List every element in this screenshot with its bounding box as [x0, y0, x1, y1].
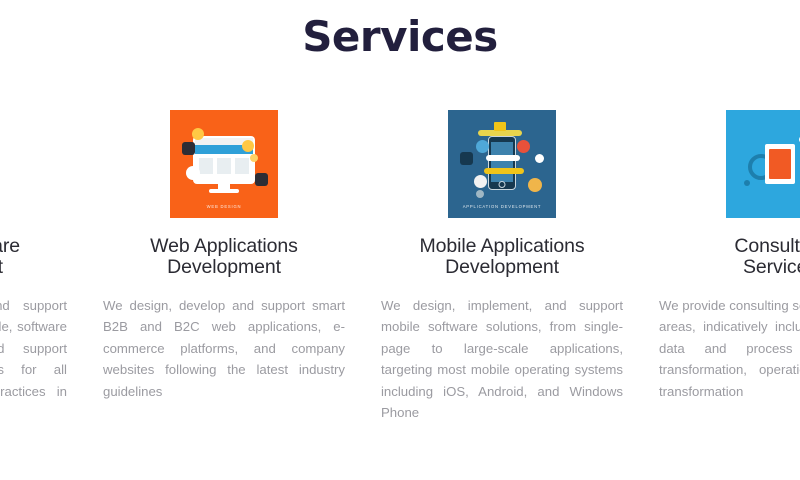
service-card-heading-line1: Web Applications: [150, 235, 298, 257]
bullet-dot: [744, 180, 750, 186]
service-card-mobile-applications-development[interactable]: APPLICATION DEVELOPMENT Mobile Applicati…: [381, 110, 623, 423]
service-card-heading: Custom Software Development: [0, 236, 67, 278]
service-card-description: We provide consulting services in divers…: [659, 295, 800, 402]
document-gear-illustration: [726, 110, 800, 218]
page-title: Services: [0, 14, 800, 60]
cursor-hand-icon: [528, 178, 542, 192]
input-bar: [486, 155, 520, 161]
application-development-illustration: APPLICATION DEVELOPMENT: [448, 110, 556, 218]
heart-icon: [517, 140, 530, 153]
clock-icon: [186, 166, 200, 180]
service-card-heading-line2: Development: [381, 257, 623, 278]
service-card-web-applications-development[interactable]: WEB DESIGN Web Applications Development …: [103, 110, 345, 402]
camera-icon: [255, 173, 268, 186]
cart-icon: [535, 154, 544, 163]
smartphone-icon: [488, 136, 516, 190]
web-design-illustration: WEB DESIGN: [170, 110, 278, 218]
service-card-heading: Mobile Applications Development: [381, 236, 623, 278]
service-card-heading-line1: Mobile Applications: [419, 235, 584, 257]
settings-icon: [476, 190, 484, 198]
service-card-heading-line2: Services: [659, 257, 800, 278]
service-card-consulting-services[interactable]: Consulting Services We provide consultin…: [659, 110, 800, 402]
pencil-icon: [250, 154, 258, 162]
document-icon: [765, 144, 795, 184]
app-icon: [460, 152, 473, 165]
camera-icon: [182, 142, 195, 155]
service-card-heading: Consulting Services: [659, 236, 800, 278]
lightbulb-icon: [242, 140, 254, 152]
service-card-description: We design, develop and support smart B2B…: [103, 295, 345, 402]
thumbs-up-icon: [476, 140, 489, 153]
lightbulb-icon: [192, 128, 204, 140]
service-card-heading-line1: Custom Software: [0, 235, 20, 257]
button-bar: [484, 168, 524, 174]
monitor-base: [209, 189, 239, 193]
service-card-heading-line2: Development: [0, 257, 67, 278]
service-card-custom-software-development[interactable]: Custom Software Development We design, i…: [0, 110, 67, 423]
services-section: Services Custom Software Development We …: [0, 0, 800, 480]
image-caption: WEB DESIGN: [170, 204, 278, 209]
image-caption: APPLICATION DEVELOPMENT: [448, 204, 556, 209]
service-cards-row: Custom Software Development We design, i…: [0, 110, 800, 423]
service-card-heading: Web Applications Development: [103, 236, 345, 278]
service-card-heading-line2: Development: [103, 257, 345, 278]
service-card-heading-line1: Consulting: [734, 235, 800, 257]
service-card-description: We design, implement and support softwar…: [0, 295, 67, 423]
mail-icon: [494, 122, 506, 131]
service-card-description: We design, implement, and support mobile…: [381, 295, 623, 423]
music-icon: [474, 175, 487, 188]
